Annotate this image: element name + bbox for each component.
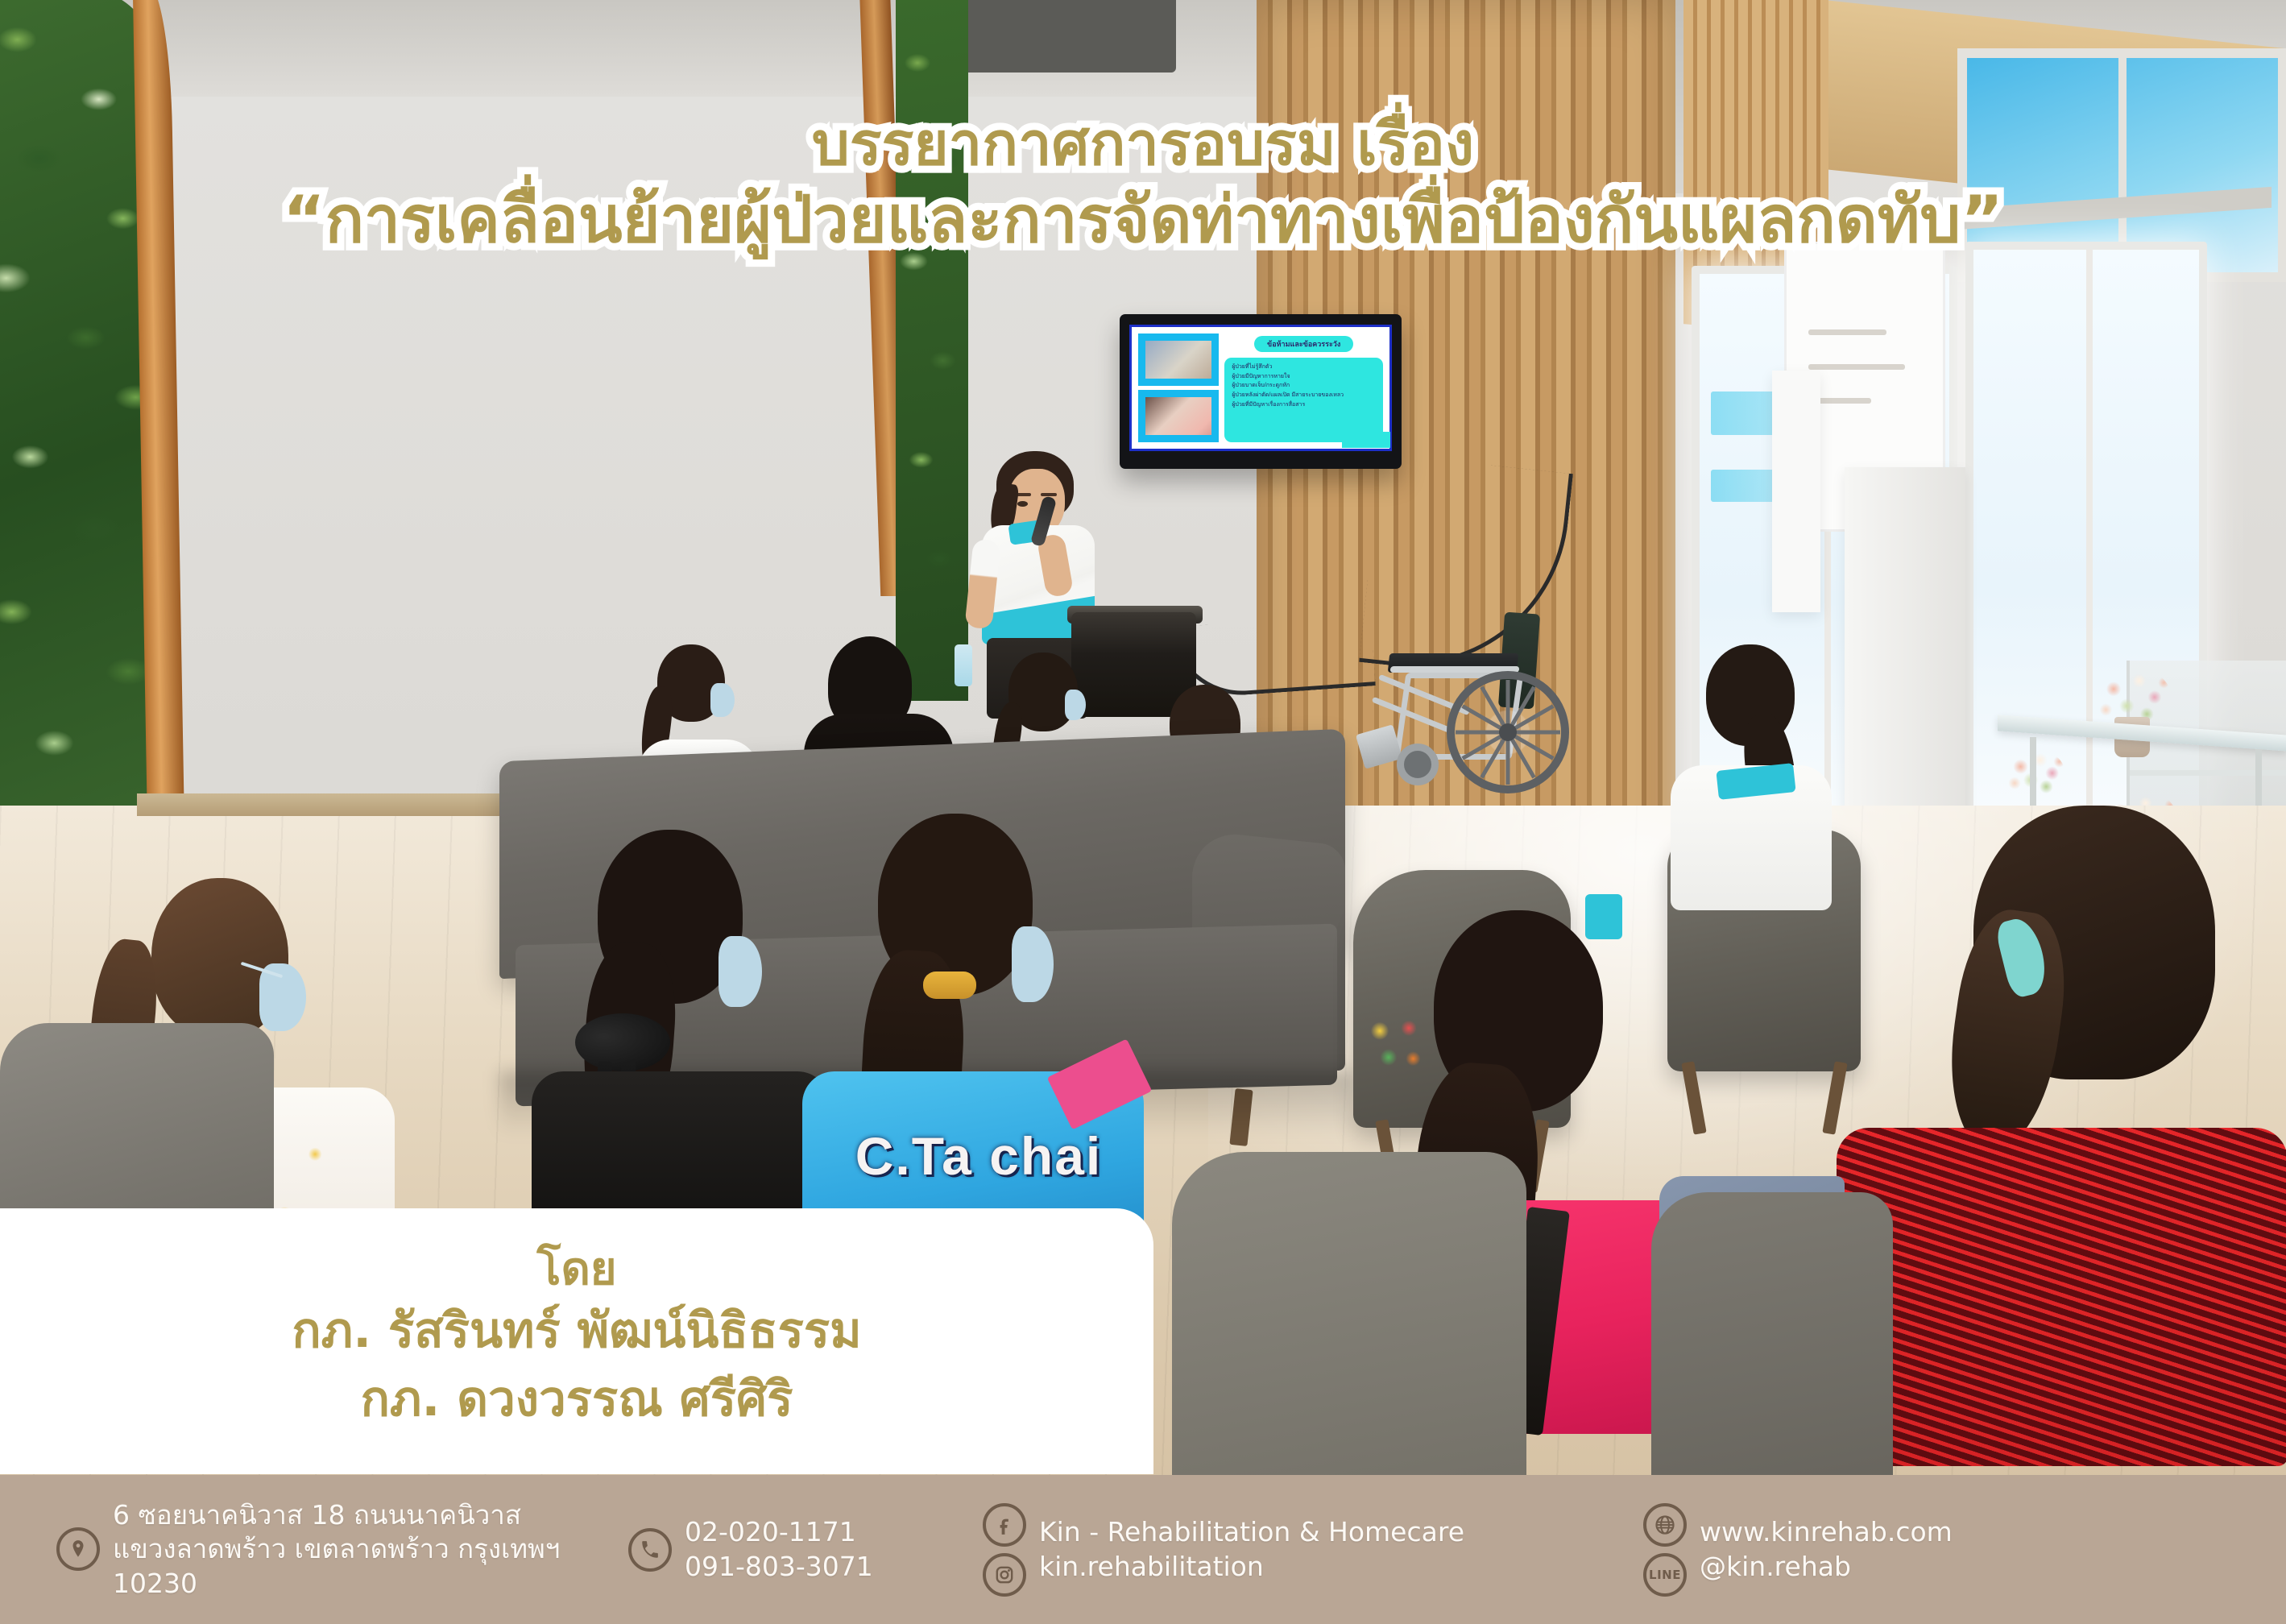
shelf-board (2130, 770, 2286, 776)
slide-header: ข้อห้ามและข้อควรระวัง (1254, 336, 1353, 352)
website-url[interactable]: www.kinrehab.com (1700, 1515, 1953, 1549)
presenter-name-card: โดย กภ. รัสรินทร์ พัฒน์นิธิธรรม กภ. ดวงว… (0, 1208, 1153, 1474)
attendee-front-jersey: C.Ta chai (789, 814, 1144, 1249)
slide-photo-patient (1138, 333, 1219, 386)
held-item-cyan (1585, 894, 1622, 939)
slide-bullet: ผู้ป่วยที่มีปัญหาเรื่องการสื่อสาร (1232, 402, 1376, 408)
attendee-front-red (1837, 806, 2286, 1474)
wall-television: ข้อห้ามและข้อควรระวัง ผู้ป่วยที่ไม่รู้สึ… (1120, 314, 1402, 469)
wheelchair-caster-wheel (1397, 744, 1439, 785)
face-mask (719, 936, 762, 1007)
wheelchair (1352, 624, 1585, 802)
slide-bullet: ผู้ป่วยที่ไม่รู้สึกตัว (1232, 364, 1376, 371)
face-mask (1012, 926, 1054, 1002)
phone-number-2[interactable]: 091-803-3071 (685, 1550, 873, 1584)
presenter-name-2: กภ. ดวงวรรณ ศรีศิริ (361, 1367, 793, 1432)
face-mask (259, 963, 306, 1031)
address-line-1: 6 ซอยนาคนิวาส 18 ถนนนาคนิวาส (113, 1498, 560, 1532)
instagram-icon[interactable] (983, 1553, 1026, 1597)
address-line-3: 10230 (113, 1567, 560, 1601)
notice-text-line (1808, 329, 1886, 335)
address-lines: 6 ซอยนาคนิวาส 18 ถนนนาคนิวาส แขวงลาดพร้า… (113, 1498, 560, 1601)
web-icon-stack: LINE (1643, 1503, 1687, 1597)
line-icon-label: LINE (1649, 1568, 1681, 1582)
slide-bullet: ผู้ป่วยหลังผ่าตัด/แผลเปิด มีสายระบายของเ… (1232, 392, 1376, 399)
hair-scrunchie (923, 971, 976, 999)
eyebrow (1041, 493, 1057, 496)
facebook-icon[interactable] (983, 1503, 1026, 1547)
facebook-handle[interactable]: Kin - Rehabilitation & Homecare (1039, 1515, 1464, 1549)
social-handles: Kin - Rehabilitation & Homecare kin.reha… (1039, 1515, 1464, 1583)
slide-photo-wound (1138, 390, 1219, 442)
line-handle[interactable]: @kin.rehab (1700, 1550, 1953, 1584)
phone-icon (628, 1528, 672, 1572)
slide-bullet-list: ผู้ป่วยที่ไม่รู้สึกตัว ผู้ป่วยมีปัญหาการ… (1224, 358, 1383, 442)
line-icon[interactable]: LINE (1643, 1553, 1687, 1597)
slide-image-column (1138, 333, 1219, 442)
ceiling-beam (950, 0, 1176, 72)
footer-contact-bar: 6 ซอยนาคนิวาส 18 ถนนนาคนิวาส แขวงลาดพร้า… (0, 1475, 2286, 1624)
eye (1017, 501, 1028, 507)
jersey-text: C.Ta chai (822, 1120, 1136, 1192)
footer-address-group: 6 ซอยนาคนิวาส 18 ถนนนาคนิวาส แขวงลาดพร้า… (56, 1498, 620, 1601)
attendee-front-ribbon (507, 830, 830, 1232)
globe-icon[interactable] (1643, 1503, 1687, 1547)
face-mask (1065, 690, 1086, 720)
green-plant-column (896, 0, 968, 701)
footer-phone-group[interactable]: 02-020-1171 091-803-3071 (628, 1515, 975, 1583)
web-handles: www.kinrehab.com @kin.rehab (1700, 1515, 1953, 1583)
water-bottle (955, 644, 972, 686)
phone-numbers: 02-020-1171 091-803-3071 (685, 1515, 873, 1583)
location-pin-icon (56, 1527, 100, 1571)
notice-text-line (1808, 364, 1905, 370)
instagram-handle[interactable]: kin.rehabilitation (1039, 1550, 1464, 1584)
hair-flower-clip (1358, 1010, 1431, 1079)
slide-bullet: ผู้ป่วยมีปัญหาการหายใจ (1232, 374, 1376, 380)
wheelchair-main-wheel (1447, 671, 1569, 793)
by-label: โดย (536, 1244, 616, 1295)
footer-social-group[interactable]: Kin - Rehabilitation & Homecare kin.reha… (983, 1503, 1635, 1597)
torso-red-pattern (1837, 1128, 2286, 1466)
slide-bullet: ผู้ป่วยบาดเจ็บ/กระดูกหัก (1232, 383, 1376, 389)
presenter-name-1: กภ. รัสรินทร์ พัฒน์นิธิธรรม (292, 1299, 861, 1364)
address-line-2: แขวงลาดพร้าว เขตลาดพร้าว กรุงเทพฯ (113, 1532, 560, 1566)
phone-number-1[interactable]: 02-020-1171 (685, 1515, 873, 1549)
social-icon-stack (983, 1503, 1026, 1597)
attendee-staff-uniform (1651, 644, 1861, 910)
wheel-hub (1499, 723, 1517, 741)
wheelchair-footplate (1356, 724, 1402, 769)
face-mask (710, 683, 735, 717)
footer-web-group[interactable]: LINE www.kinrehab.com @kin.rehab (1643, 1503, 2191, 1597)
poster-root: ข้อห้ามและข้อควรระวัง ผู้ป่วยที่ไม่รู้สึ… (0, 0, 2286, 1624)
slide-corner-accent (1342, 432, 1390, 448)
slide-text-column: ข้อห้ามและข้อควรระวัง ผู้ป่วยที่ไม่รู้สึ… (1224, 333, 1383, 442)
standing-panel-small (1772, 371, 1820, 612)
